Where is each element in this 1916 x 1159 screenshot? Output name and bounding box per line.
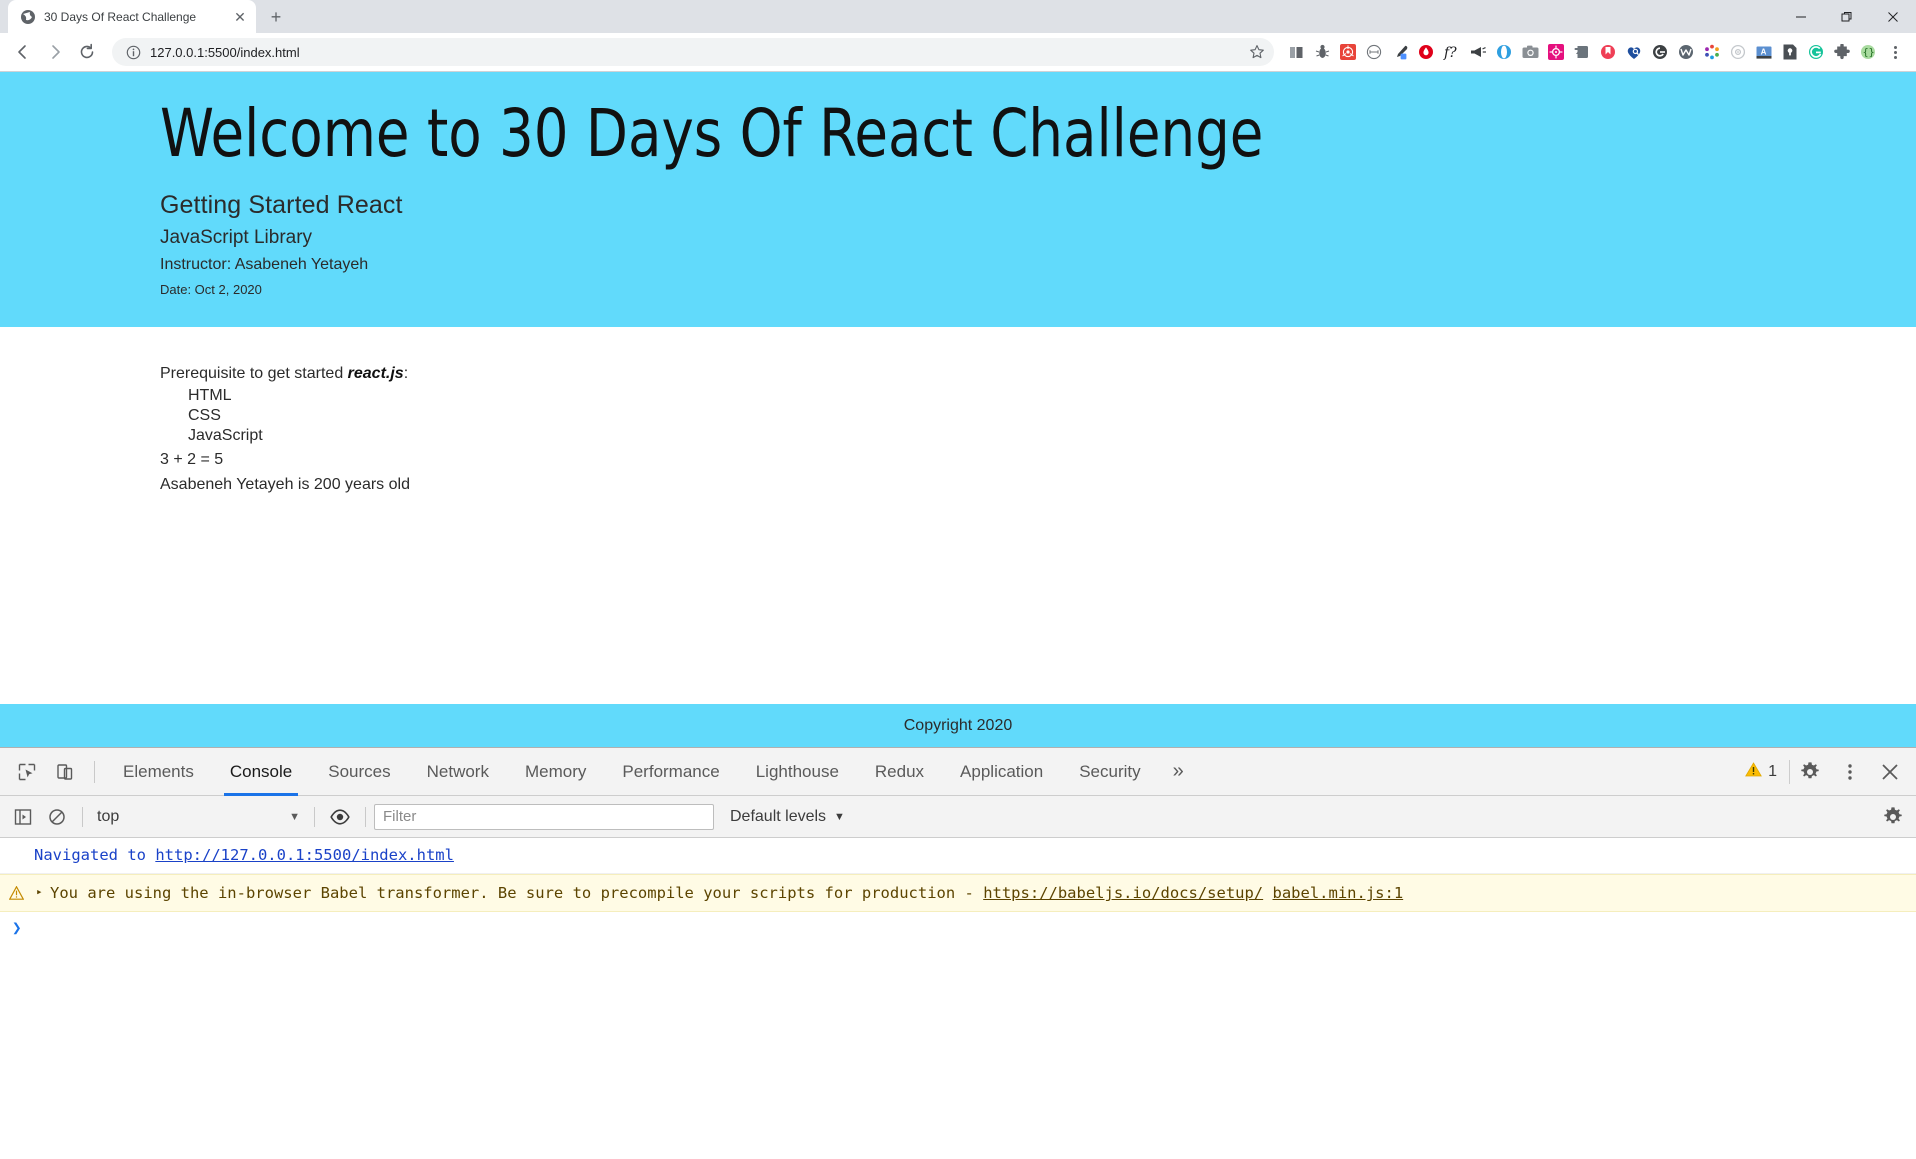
adblock-icon[interactable] — [1414, 39, 1438, 65]
console-toolbar: top ▼ Default levels ▼ — [0, 796, 1916, 838]
bookmark-star-icon[interactable] — [1246, 41, 1268, 63]
wave-icon[interactable] — [1674, 39, 1698, 65]
gear-icon[interactable] — [1790, 752, 1830, 792]
todoist-icon[interactable] — [1570, 39, 1594, 65]
browser-toolbar: 127.0.0.1:5500/index.html f? — [0, 33, 1916, 72]
divider — [314, 807, 315, 827]
prerequisite-suffix: : — [404, 365, 408, 382]
clear-console-icon[interactable] — [40, 800, 74, 834]
log-levels-label: Default levels — [730, 808, 826, 826]
minimize-button[interactable] — [1778, 0, 1824, 33]
browser-tab-strip: 30 Days Of React Challenge ✕ + — [0, 0, 1916, 33]
devtools-tab-bar: Elements Console Sources Network Memory … — [0, 748, 1916, 796]
site-info-icon[interactable] — [124, 43, 142, 61]
forward-icon[interactable] — [40, 37, 70, 67]
source-location-link[interactable]: babel.min.js:1 — [1273, 884, 1404, 902]
warning-count-badge[interactable]: 1 — [1733, 762, 1789, 782]
address-bar-url: 127.0.0.1:5500/index.html — [150, 45, 1246, 60]
expand-message-icon[interactable]: ▸ — [36, 883, 43, 900]
close-icon[interactable]: ✕ — [232, 9, 248, 25]
split-view-icon[interactable] — [1284, 39, 1308, 65]
page-subtitle: Getting Started React — [160, 191, 1916, 220]
divider — [82, 807, 83, 827]
screenshot-icon[interactable] — [1518, 39, 1542, 65]
octotree-icon[interactable] — [1544, 39, 1568, 65]
more-tabs-icon[interactable]: » — [1159, 748, 1198, 796]
warning-triangle-icon — [9, 883, 24, 897]
address-bar[interactable]: 127.0.0.1:5500/index.html — [112, 38, 1274, 66]
browser-tab-title: 30 Days Of React Challenge — [44, 10, 224, 24]
maximize-button[interactable] — [1824, 0, 1870, 33]
divider — [365, 807, 366, 827]
log-levels-selector[interactable]: Default levels ▼ — [730, 808, 845, 826]
console-message-navigation: Navigated to http://127.0.0.1:5500/index… — [0, 838, 1916, 874]
close-devtools-icon[interactable] — [1870, 752, 1910, 792]
babel-docs-link[interactable]: https://babeljs.io/docs/setup/ — [983, 884, 1263, 902]
puzzle-icon[interactable] — [1830, 39, 1854, 65]
prerequisite-emphasis: react.js — [348, 365, 404, 382]
tab-memory[interactable]: Memory — [507, 748, 604, 796]
json-viewer-icon[interactable]: {} — [1856, 39, 1880, 65]
opera-icon[interactable] — [1492, 39, 1516, 65]
svg-text:{}: {} — [1863, 48, 1875, 59]
back-icon[interactable] — [8, 37, 38, 67]
list-item: HTML — [188, 386, 1916, 406]
pocket-icon[interactable] — [1596, 39, 1620, 65]
bug-icon[interactable] — [1310, 39, 1334, 65]
browser-tab[interactable]: 30 Days Of React Challenge ✕ — [8, 0, 256, 33]
console-context-selector[interactable]: top ▼ — [91, 808, 306, 826]
notes-icon[interactable] — [1778, 39, 1802, 65]
tag-icon[interactable]: A — [1752, 39, 1776, 65]
svg-text:f?: f? — [1443, 45, 1457, 60]
browser-menu-icon[interactable] — [1882, 39, 1908, 65]
warning-message-text: You are using the in-browser Babel trans… — [10, 881, 1908, 905]
instructor-line: Instructor: Asabeneh Yetayeh — [160, 256, 1916, 274]
filter-input[interactable] — [374, 804, 714, 830]
console-output: Navigated to http://127.0.0.1:5500/index… — [0, 838, 1916, 1159]
chevron-down-icon: ▼ — [834, 811, 845, 823]
colorzilla-icon[interactable] — [1700, 39, 1724, 65]
copyright-text: Copyright 2020 — [904, 717, 1013, 735]
clockify-icon[interactable] — [1648, 39, 1672, 65]
devtools-tabs: Elements Console Sources Network Memory … — [105, 748, 1733, 796]
more-options-icon[interactable] — [1830, 752, 1870, 792]
svg-text:A: A — [1761, 47, 1767, 56]
tab-performance[interactable]: Performance — [604, 748, 737, 796]
reload-icon[interactable] — [72, 37, 102, 67]
measure-icon[interactable] — [1362, 39, 1386, 65]
tab-application[interactable]: Application — [942, 748, 1061, 796]
divider — [94, 761, 95, 783]
devtools-panel: Elements Console Sources Network Memory … — [0, 747, 1916, 1159]
chevron-down-icon: ▼ — [289, 811, 306, 823]
page-title: Welcome to 30 Days Of React Challenge — [160, 98, 1776, 169]
navigated-url-link[interactable]: http://127.0.0.1:5500/index.html — [155, 846, 454, 864]
date-line: Date: Oct 2, 2020 — [160, 282, 1916, 297]
device-toolbar-icon[interactable] — [46, 753, 84, 791]
age-line: Asabeneh Yetayeh is 200 years old — [160, 475, 1916, 495]
inspect-element-icon[interactable] — [8, 753, 46, 791]
fonts-ninja-icon[interactable]: f? — [1440, 39, 1464, 65]
console-settings-icon[interactable] — [1876, 800, 1910, 834]
globe-icon — [20, 9, 36, 25]
tab-lighthouse[interactable]: Lighthouse — [738, 748, 857, 796]
live-expression-icon[interactable] — [323, 800, 357, 834]
tab-security[interactable]: Security — [1061, 748, 1158, 796]
console-context-value: top — [97, 808, 289, 826]
new-tab-button[interactable]: + — [262, 3, 290, 31]
prompt-caret-icon: ❯ — [12, 918, 22, 937]
devtools-tab-bar-actions: 1 — [1733, 752, 1916, 792]
disc-icon[interactable] — [1726, 39, 1750, 65]
prerequisite-list: HTML CSS JavaScript — [160, 386, 1916, 446]
warning-text-body: You are using the in-browser Babel trans… — [50, 884, 983, 902]
console-prompt[interactable]: ❯ — [0, 912, 1916, 937]
wappalyzer-icon[interactable] — [1336, 39, 1360, 65]
page-viewport: Welcome to 30 Days Of React Challenge Ge… — [0, 72, 1916, 747]
page-header: Welcome to 30 Days Of React Challenge Ge… — [0, 72, 1916, 327]
megaphone-icon[interactable] — [1466, 39, 1490, 65]
list-item: CSS — [188, 406, 1916, 426]
warning-triangle-icon — [1745, 762, 1762, 782]
tab-console[interactable]: Console — [212, 748, 310, 796]
tab-network[interactable]: Network — [409, 748, 507, 796]
console-message-warning: ▸ You are using the in-browser Babel tra… — [0, 874, 1916, 912]
warning-count: 1 — [1768, 763, 1777, 781]
close-window-button[interactable] — [1870, 0, 1916, 33]
heart-search-icon[interactable] — [1622, 39, 1646, 65]
extension-toolbar: f? — [1284, 39, 1908, 65]
page-main: Prerequisite to get started react.js: HT… — [0, 327, 1916, 704]
page-footer: Copyright 2020 — [0, 704, 1916, 747]
list-item: JavaScript — [188, 426, 1916, 446]
eyedropper-icon[interactable] — [1388, 39, 1412, 65]
window-controls — [1778, 0, 1916, 33]
grammarly-icon[interactable] — [1804, 39, 1828, 65]
navigated-prefix: Navigated to — [34, 846, 155, 864]
page-sub-subtitle: JavaScript Library — [160, 227, 1916, 249]
tab-sources[interactable]: Sources — [310, 748, 408, 796]
tab-elements[interactable]: Elements — [105, 748, 212, 796]
prerequisite-line: Prerequisite to get started react.js: — [160, 365, 1916, 383]
console-sidebar-icon[interactable] — [6, 800, 40, 834]
sum-line: 3 + 2 = 5 — [160, 450, 1916, 470]
tab-redux[interactable]: Redux — [857, 748, 942, 796]
prerequisite-prefix: Prerequisite to get started — [160, 365, 348, 382]
